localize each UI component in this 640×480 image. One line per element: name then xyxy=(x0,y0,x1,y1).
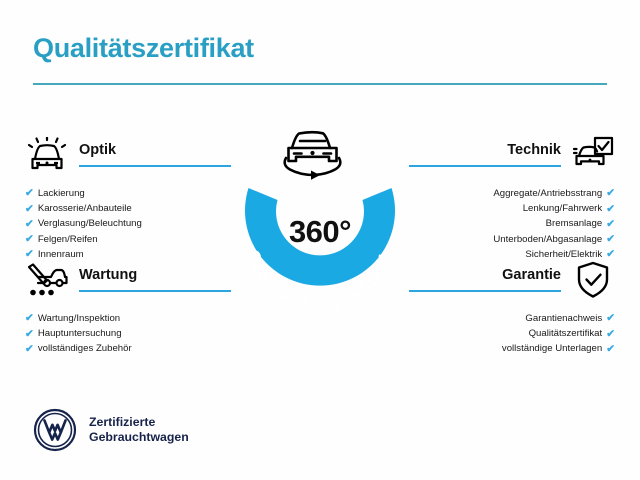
list-item: Unterboden/Abgasanlage ✔ xyxy=(385,232,615,247)
list-item-label: Felgen/Reifen xyxy=(38,232,98,247)
list-item: ✔ Lackierung xyxy=(25,186,255,201)
list-item-label: Unterboden/Abgasanlage xyxy=(493,232,602,247)
checklist-wartung: ✔ Wartung/Inspektion ✔ Hauptuntersuchung… xyxy=(25,311,255,357)
check-icon: ✔ xyxy=(606,234,615,245)
list-item: ✔ Felgen/Reifen xyxy=(25,232,255,247)
list-item-label: Qualitätszertifikat xyxy=(529,326,603,341)
footer-brand: Zertifizierte Gebrauchtwagen xyxy=(33,408,189,452)
certificate-page: Qualitätszertifikat xyxy=(0,0,640,480)
list-item-label: Hauptuntersuchung xyxy=(38,326,122,341)
check-icon: ✔ xyxy=(25,344,34,355)
checklist-optik: ✔ Lackierung ✔ Karosserie/Anbauteile ✔ V… xyxy=(25,186,255,262)
section-divider-optik xyxy=(79,165,231,167)
check-icon: ✔ xyxy=(25,188,34,199)
check-icon: ✔ xyxy=(606,219,615,230)
list-item-label: vollständige Unterlagen xyxy=(502,341,602,356)
check-icon: ✔ xyxy=(25,234,34,245)
list-item: ✔ vollständiges Zubehör xyxy=(25,341,255,356)
car-checkbox-icon xyxy=(571,133,615,177)
check-icon: ✔ xyxy=(606,204,615,215)
section-divider-technik xyxy=(409,165,561,167)
list-item: Aggregate/Antriebsstrang ✔ xyxy=(385,186,615,201)
list-item-label: Aggregate/Antriebsstrang xyxy=(493,186,602,201)
list-item: Lenkung/Fahrwerk ✔ xyxy=(385,201,615,216)
list-item-label: Wartung/Inspektion xyxy=(38,311,120,326)
page-header: Qualitätszertifikat xyxy=(33,34,607,85)
page-title: Qualitätszertifikat xyxy=(33,34,607,64)
check-icon: ✔ xyxy=(606,313,615,324)
footer-brand-line2: Gebrauchtwagen xyxy=(89,430,189,445)
section-optik: Optik ✔ Lackierung ✔ Karosserie/Anbautei… xyxy=(25,133,255,262)
check-icon: ✔ xyxy=(25,329,34,340)
section-wartung: Wartung ✔ Wartung/Inspektion ✔ Hauptunte… xyxy=(25,258,255,357)
section-garantie: Garantie Garantienachweis ✔ Qualitätszer… xyxy=(385,258,615,357)
rotation-arrow-head xyxy=(311,171,320,180)
wrench-car-service-icon xyxy=(25,258,69,302)
list-item: ✔ Wartung/Inspektion xyxy=(25,311,255,326)
check-icon: ✔ xyxy=(25,204,34,215)
section-divider-garantie xyxy=(409,290,561,292)
checklist-technik: Aggregate/Antriebsstrang ✔ Lenkung/Fahrw… xyxy=(385,186,615,262)
check-icon: ✔ xyxy=(606,329,615,340)
list-item: vollständige Unterlagen ✔ xyxy=(385,341,615,356)
list-item-label: Garantienachweis xyxy=(525,311,602,326)
list-item-label: Verglasung/Beleuchtung xyxy=(38,216,142,231)
list-item: ✔ Hauptuntersuchung xyxy=(25,326,255,341)
list-item: Bremsanlage ✔ xyxy=(385,216,615,231)
list-item-label: Lenkung/Fahrwerk xyxy=(523,201,602,216)
list-item: Garantienachweis ✔ xyxy=(385,311,615,326)
list-item: Qualitätszertifikat ✔ xyxy=(385,326,615,341)
badge-360-check: Gebrauchtwagen-Check 36 xyxy=(222,118,418,318)
check-icon: ✔ xyxy=(606,188,615,199)
header-divider xyxy=(33,83,607,85)
list-item-label: Lackierung xyxy=(38,186,85,201)
checklist-garantie: Garantienachweis ✔ Qualitätszertifikat ✔… xyxy=(385,311,615,357)
car-front-shine-icon xyxy=(25,133,69,177)
check-icon: ✔ xyxy=(25,219,34,230)
footer-brand-line1: Zertifizierte xyxy=(89,415,189,430)
check-icon: ✔ xyxy=(25,313,34,324)
list-item: ✔ Karosserie/Anbauteile xyxy=(25,201,255,216)
list-item-label: Bremsanlage xyxy=(546,216,603,231)
car-front-rotate-icon xyxy=(285,132,341,180)
badge-center-label: 360° xyxy=(222,214,418,250)
list-item-label: Karosserie/Anbauteile xyxy=(38,201,132,216)
section-technik: Technik Aggregat xyxy=(385,133,615,262)
shield-check-icon xyxy=(571,258,615,302)
footer-brand-text: Zertifizierte Gebrauchtwagen xyxy=(89,415,189,445)
check-icon: ✔ xyxy=(606,344,615,355)
vw-logo-icon xyxy=(33,408,77,452)
list-item-label: vollständiges Zubehör xyxy=(38,341,132,356)
section-divider-wartung xyxy=(79,290,231,292)
list-item: ✔ Verglasung/Beleuchtung xyxy=(25,216,255,231)
